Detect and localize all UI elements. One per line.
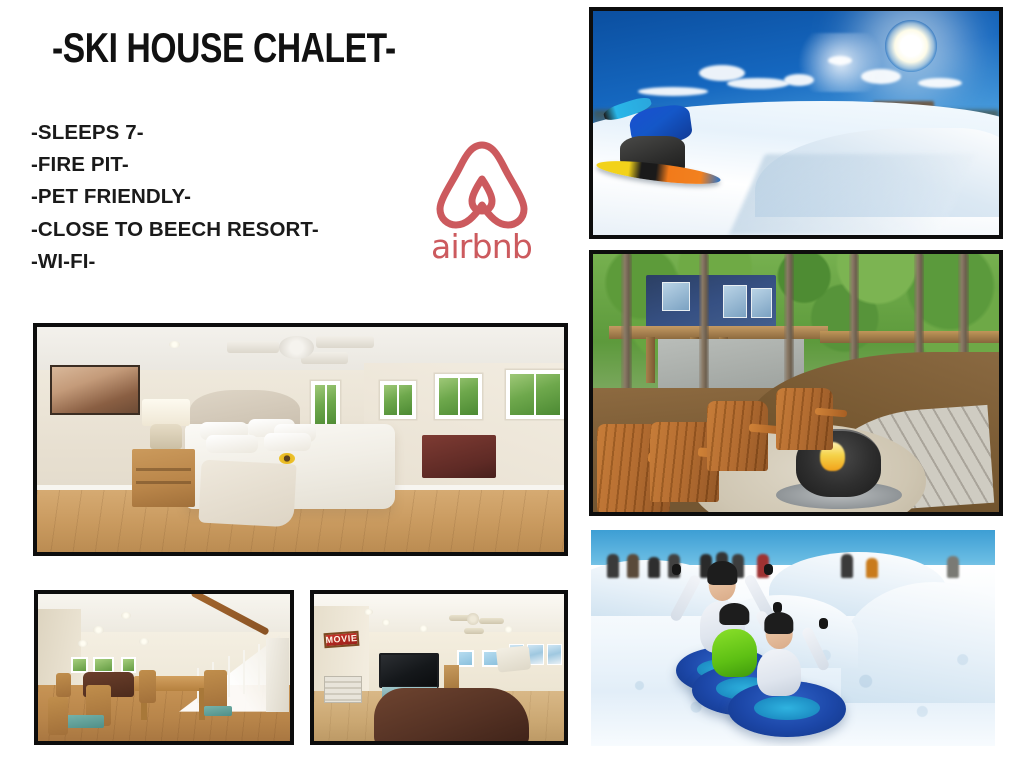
page-title: -SKI HOUSE CHALET- (52, 26, 396, 70)
poster-canvas: -SKI HOUSE CHALET- -SLEEPS 7- -FIRE PIT-… (0, 0, 1024, 768)
photo-snowboarder (589, 7, 1003, 239)
photo-bedroom (33, 323, 568, 556)
feature-item: -PET FRIENDLY- (31, 181, 319, 213)
movie-sign-label: MOVIE (325, 633, 358, 645)
photo-fire-pit (589, 250, 1003, 516)
feature-item: -CLOSE TO BEECH RESORT- (31, 214, 319, 246)
photo-snow-tubing (591, 530, 995, 746)
feature-item: -SLEEPS 7- (31, 117, 319, 149)
airbnb-wordmark: airbnb (419, 230, 544, 264)
movie-sign: MOVIE (324, 631, 360, 648)
feature-item: -FIRE PIT- (31, 149, 319, 181)
feature-list: -SLEEPS 7- -FIRE PIT- -PET FRIENDLY- -CL… (31, 117, 319, 278)
photo-living-room: MOVIE (310, 590, 568, 745)
photo-dining-stairs (34, 590, 294, 745)
airbnb-belo-icon (428, 139, 536, 231)
airbnb-logo: airbnb (419, 139, 544, 259)
feature-item: -WI-FI- (31, 246, 319, 278)
